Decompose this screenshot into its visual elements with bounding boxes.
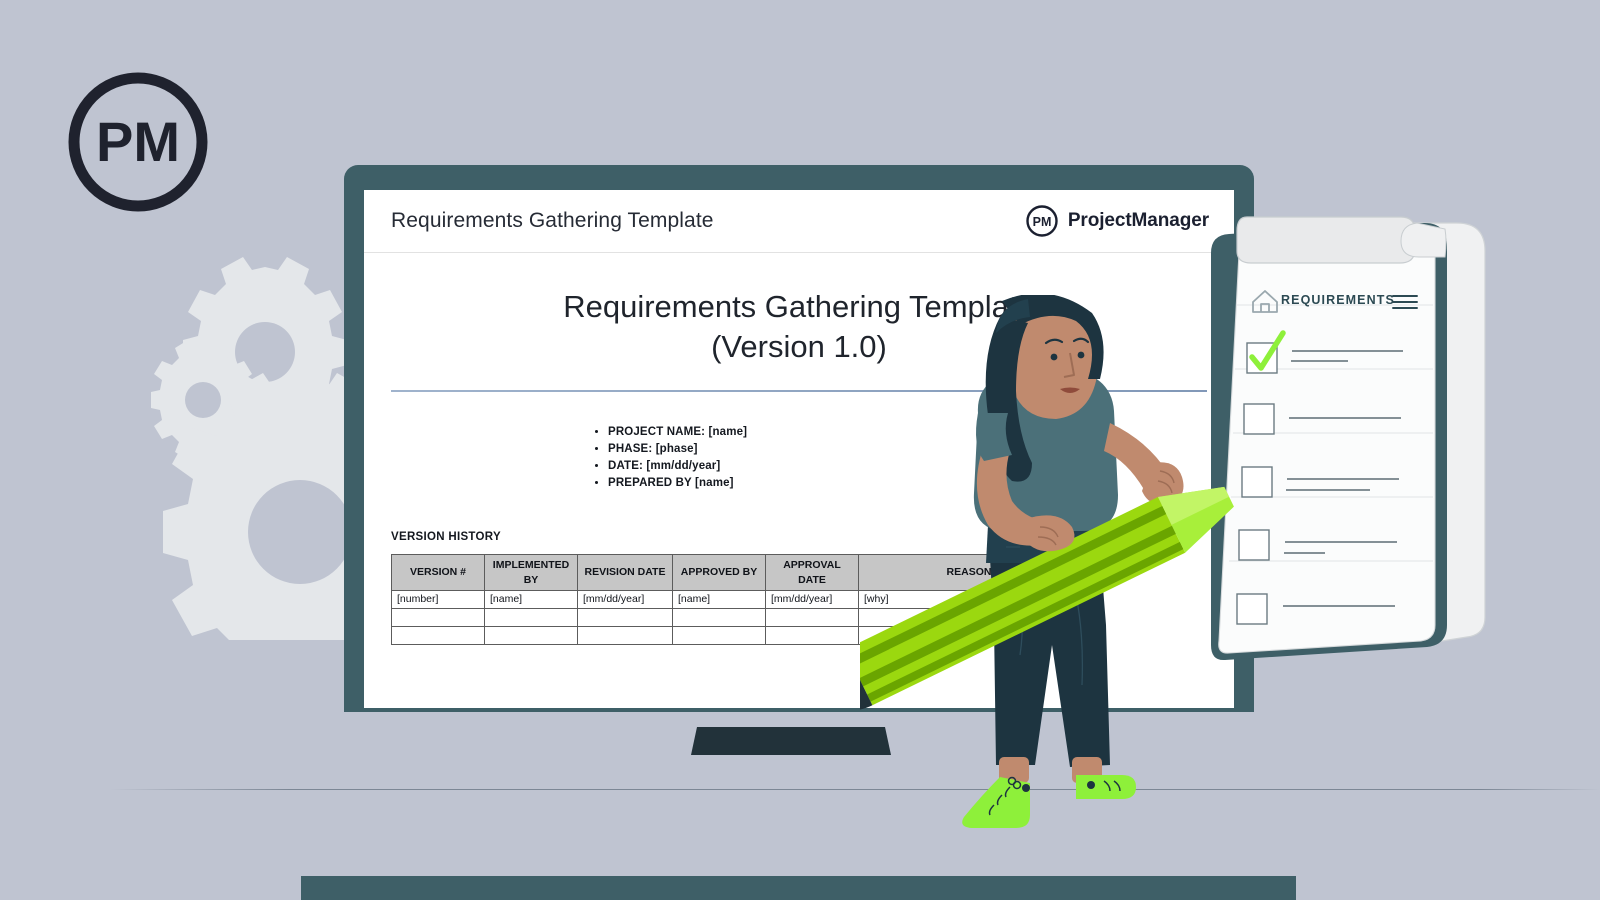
table-cell: [name] [485,590,578,608]
table-cell: [name] [673,590,766,608]
woman-with-pencil-illustration [860,295,1260,830]
svg-text:PM: PM [1032,215,1051,229]
table-cell [485,608,578,626]
table-cell [673,608,766,626]
table-cell [392,608,485,626]
projectmanager-brand: PM ProjectManager [1025,204,1209,238]
laptop-base [301,876,1296,900]
document-header: Requirements Gathering Template PM Proje… [364,190,1234,253]
table-cell: [mm/dd/year] [766,590,859,608]
pm-mark-icon: PM [1025,204,1059,238]
table-column-header: VERSION # [392,555,485,590]
brand-name-label: ProjectManager [1068,210,1209,232]
gear-small [151,340,255,460]
table-cell [392,626,485,644]
table-column-header: REVISION DATE [578,555,673,590]
table-cell [673,626,766,644]
table-cell [766,608,859,626]
clipboard-header-title: REQUIREMENTS [1281,293,1395,307]
table-column-header: APPROVAL DATE [766,555,859,590]
clipboard-clip [1237,217,1415,263]
document-header-title: Requirements Gathering Template [391,209,714,233]
table-cell: [mm/dd/year] [578,590,673,608]
table-cell [578,626,673,644]
pm-logo: PM [64,68,212,216]
table-cell [485,626,578,644]
table-cell: [number] [392,590,485,608]
table-column-header: APPROVED BY [673,555,766,590]
clipboard-clip-fold [1401,223,1446,257]
ground-shadow-line [110,789,1600,790]
table-cell [578,608,673,626]
character-shoes [962,775,1136,828]
table-column-header: IMPLEMENTED BY [485,555,578,590]
table-cell [766,626,859,644]
svg-text:PM: PM [96,110,180,173]
